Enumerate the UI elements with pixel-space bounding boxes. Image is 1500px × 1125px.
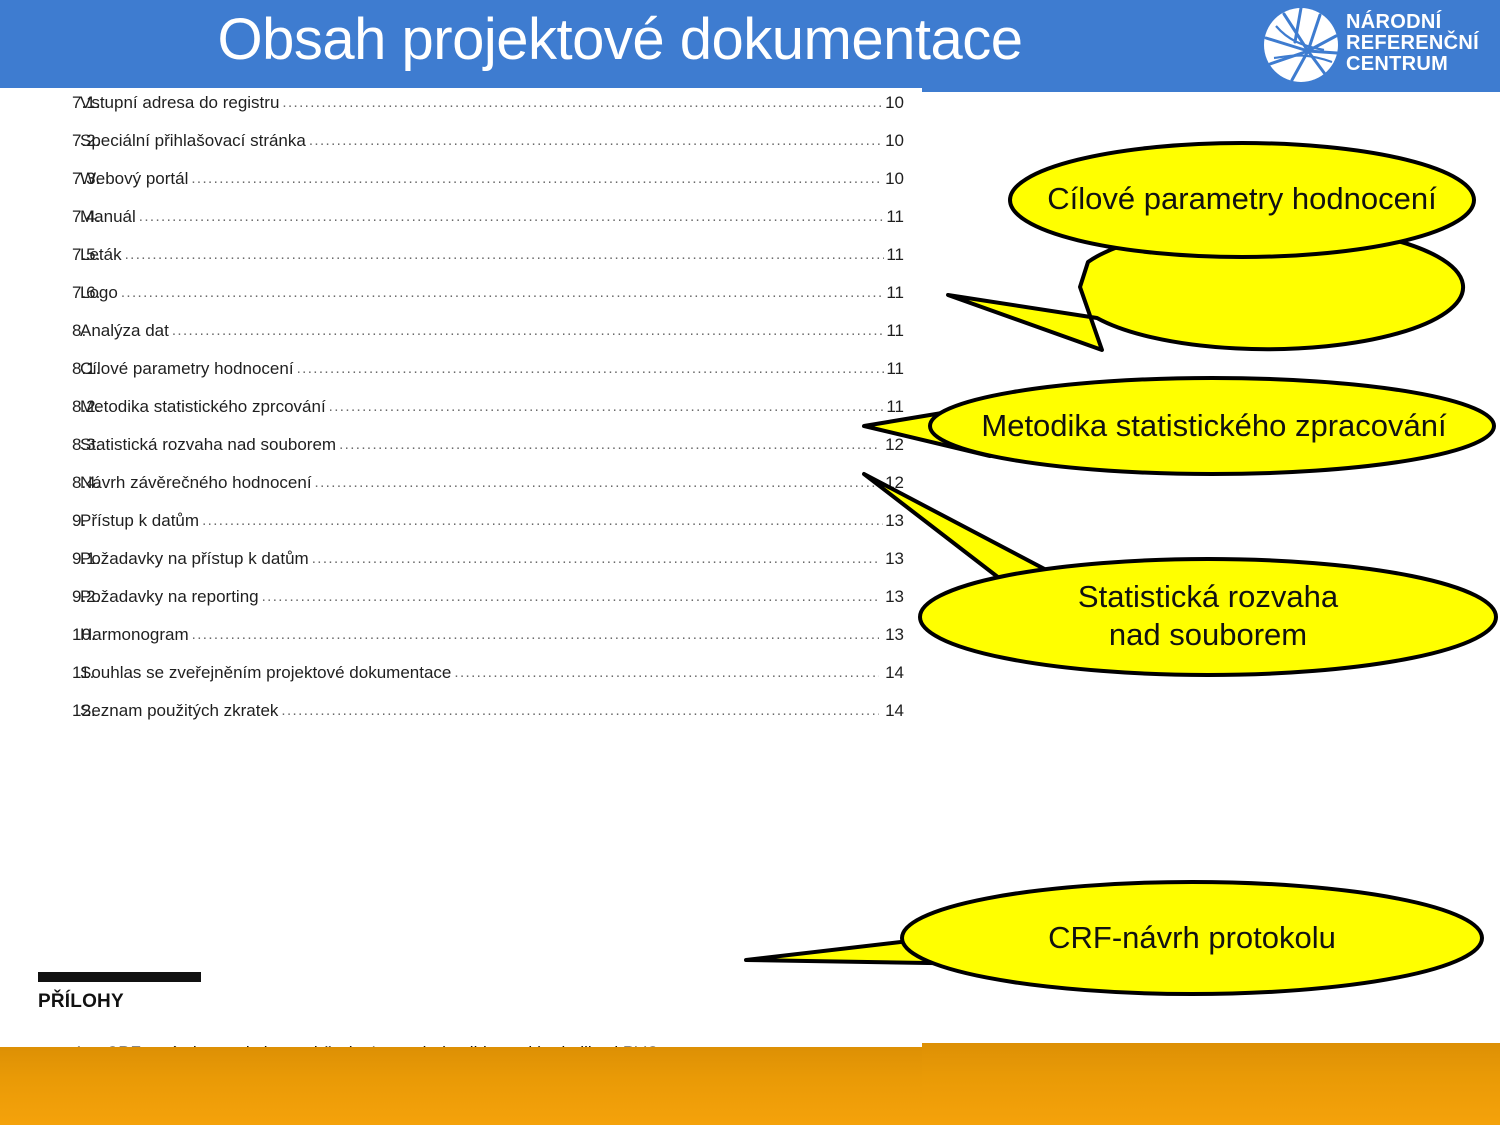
toc-row-title: Požadavky na přístup k datům — [80, 549, 312, 569]
nrc-logo-text: NÁRODNÍ REFERENČNÍ CENTRUM — [1346, 12, 1479, 75]
toc-row-number: 8.1. — [0, 359, 80, 379]
toc-leader-dots: ........................................… — [121, 284, 885, 301]
toc-leader-dots: ........................................… — [262, 588, 879, 605]
toc-leader-dots: ........................................… — [297, 360, 885, 377]
toc-leader-dots: ........................................… — [202, 512, 883, 529]
toc-leader-dots: ........................................… — [329, 398, 885, 415]
toc-leader-dots: ........................................… — [282, 94, 883, 111]
toc-leader-dots: ........................................… — [125, 246, 885, 263]
toc-leader-dots: ........................................… — [191, 170, 883, 187]
toc-leader-dots: ........................................… — [281, 702, 879, 719]
toc-leader-dots: ........................................… — [312, 550, 879, 567]
nrc-logo-line-1: NÁRODNÍ — [1346, 12, 1479, 33]
toc-leader-dots: ........................................… — [339, 436, 879, 453]
toc-leader-dots: ........................................… — [172, 322, 885, 339]
toc-row-number: 12. — [0, 701, 80, 721]
footer-bar-right — [922, 1043, 1500, 1125]
toc-row-number: 7.4. — [0, 207, 80, 227]
callout-statisticka-rozvaha[interactable]: Statistická rozvaha nad souborem — [860, 462, 1500, 682]
toc-row[interactable]: 8.3.Statistická rozvaha nad souborem ...… — [0, 435, 922, 473]
toc-row-number: 9.2. — [0, 587, 80, 607]
callout-cilove-parametry[interactable]: Cílové parametry hodnocení — [862, 142, 1500, 402]
toc-row-title: Analýza dat — [80, 321, 172, 341]
toc-row-number: 7.5. — [0, 245, 80, 265]
toc-row-title: Manuál — [80, 207, 139, 227]
toc-row[interactable]: 8.4.Návrh závěrečného hodnocení ........… — [0, 473, 922, 511]
toc-row-title: Harmonogram — [80, 625, 192, 645]
toc-row[interactable]: 10.Harmonogram .........................… — [0, 625, 922, 663]
toc-row-title: Speciální přihlašovací stránka — [80, 131, 309, 151]
toc-row[interactable]: 8.1.Cílové parametry hodnocení..........… — [0, 359, 922, 397]
footer-bar-left — [0, 1047, 922, 1125]
toc-leader-dots: ........................................… — [139, 208, 885, 225]
toc-row-number: 11. — [0, 663, 80, 683]
toc-row-page: 10 — [883, 93, 922, 113]
nrc-logo: NÁRODNÍ REFERENČNÍ CENTRUM — [1262, 4, 1496, 88]
toc-row-title: Leták — [80, 245, 125, 265]
toc-leader-dots: ........................................… — [454, 664, 879, 681]
toc-row-title: Požadavky na reporting — [80, 587, 262, 607]
toc-row-title: Statistická rozvaha nad souborem — [80, 435, 339, 455]
toc-row[interactable]: 8.2.Metodika statistického zprcování....… — [0, 397, 922, 435]
nrc-circle-logo-icon — [1262, 6, 1340, 84]
toc-row[interactable]: 9.1.Požadavky na přístup k datům........… — [0, 549, 922, 587]
toc-row[interactable]: 9.2.Požadavky na reporting .............… — [0, 587, 922, 625]
toc-row-number: 10. — [0, 625, 80, 645]
toc-row-number: 7.2. — [0, 131, 80, 151]
toc-row-number: 9.1. — [0, 549, 80, 569]
nrc-logo-line-2: REFERENČNÍ — [1346, 33, 1479, 54]
appendix-heading: PŘÍLOHY — [38, 991, 124, 1013]
toc-leader-dots: ........................................… — [315, 474, 880, 491]
toc-row-title: Webový portál — [80, 169, 191, 189]
appendix-divider — [38, 972, 201, 982]
slide: Obsah projektové dokumentace — [0, 0, 1500, 1125]
toc-row-number: 8.3. — [0, 435, 80, 455]
toc-row-number: 7.3. — [0, 169, 80, 189]
toc-row-number: 8.4. — [0, 473, 80, 493]
toc-row-page: 14 — [879, 701, 922, 721]
toc-row-title: Logo — [80, 283, 121, 303]
toc-row[interactable]: 7.3.Webový portál.......................… — [0, 169, 922, 207]
table-of-contents: 7.1.Vstupní adresa do registru..........… — [0, 93, 922, 739]
toc-row[interactable]: 7.1.Vstupní adresa do registru..........… — [0, 93, 922, 131]
toc-row-number: 9. — [0, 511, 80, 531]
toc-row-title: Metodika statistického zprcování — [80, 397, 329, 417]
page-title: Obsah projektové dokumentace — [0, 2, 1240, 78]
toc-row-title: Seznam použitých zkratek — [80, 701, 281, 721]
toc-row[interactable]: 7.6.Logo ...............................… — [0, 283, 922, 321]
toc-row-number: 7.6. — [0, 283, 80, 303]
toc-row[interactable]: 12.Seznam použitých zkratek ............… — [0, 701, 922, 739]
toc-leader-dots: ........................................… — [309, 132, 883, 149]
toc-row-title: Cílové parametry hodnocení — [80, 359, 297, 379]
toc-row[interactable]: 11.Souhlas se zveřejněním projektové dok… — [0, 663, 922, 701]
callout-crf-navrh[interactable]: CRF-návrh protokolu — [740, 876, 1500, 1008]
toc-row[interactable]: 9.Přístup k datům ......................… — [0, 511, 922, 549]
toc-row[interactable]: 7.4.Manuál..............................… — [0, 207, 922, 245]
toc-row-number: 8. — [0, 321, 80, 341]
toc-row-title: Souhlas se zveřejněním projektové dokume… — [80, 663, 454, 683]
toc-row-title: Přístup k datům — [80, 511, 202, 531]
toc-row[interactable]: 8.Analýza dat...........................… — [0, 321, 922, 359]
toc-row-title: Návrh závěrečného hodnocení — [80, 473, 315, 493]
toc-leader-dots: ........................................… — [192, 626, 879, 643]
nrc-logo-line-3: CENTRUM — [1346, 54, 1479, 75]
toc-row[interactable]: 7.5.Leták ..............................… — [0, 245, 922, 283]
toc-row[interactable]: 7.2.Speciální přihlašovací stránka......… — [0, 131, 922, 169]
toc-row-number: 7.1. — [0, 93, 80, 113]
toc-row-number: 8.2. — [0, 397, 80, 417]
toc-row-title: Vstupní adresa do registru — [80, 93, 282, 113]
